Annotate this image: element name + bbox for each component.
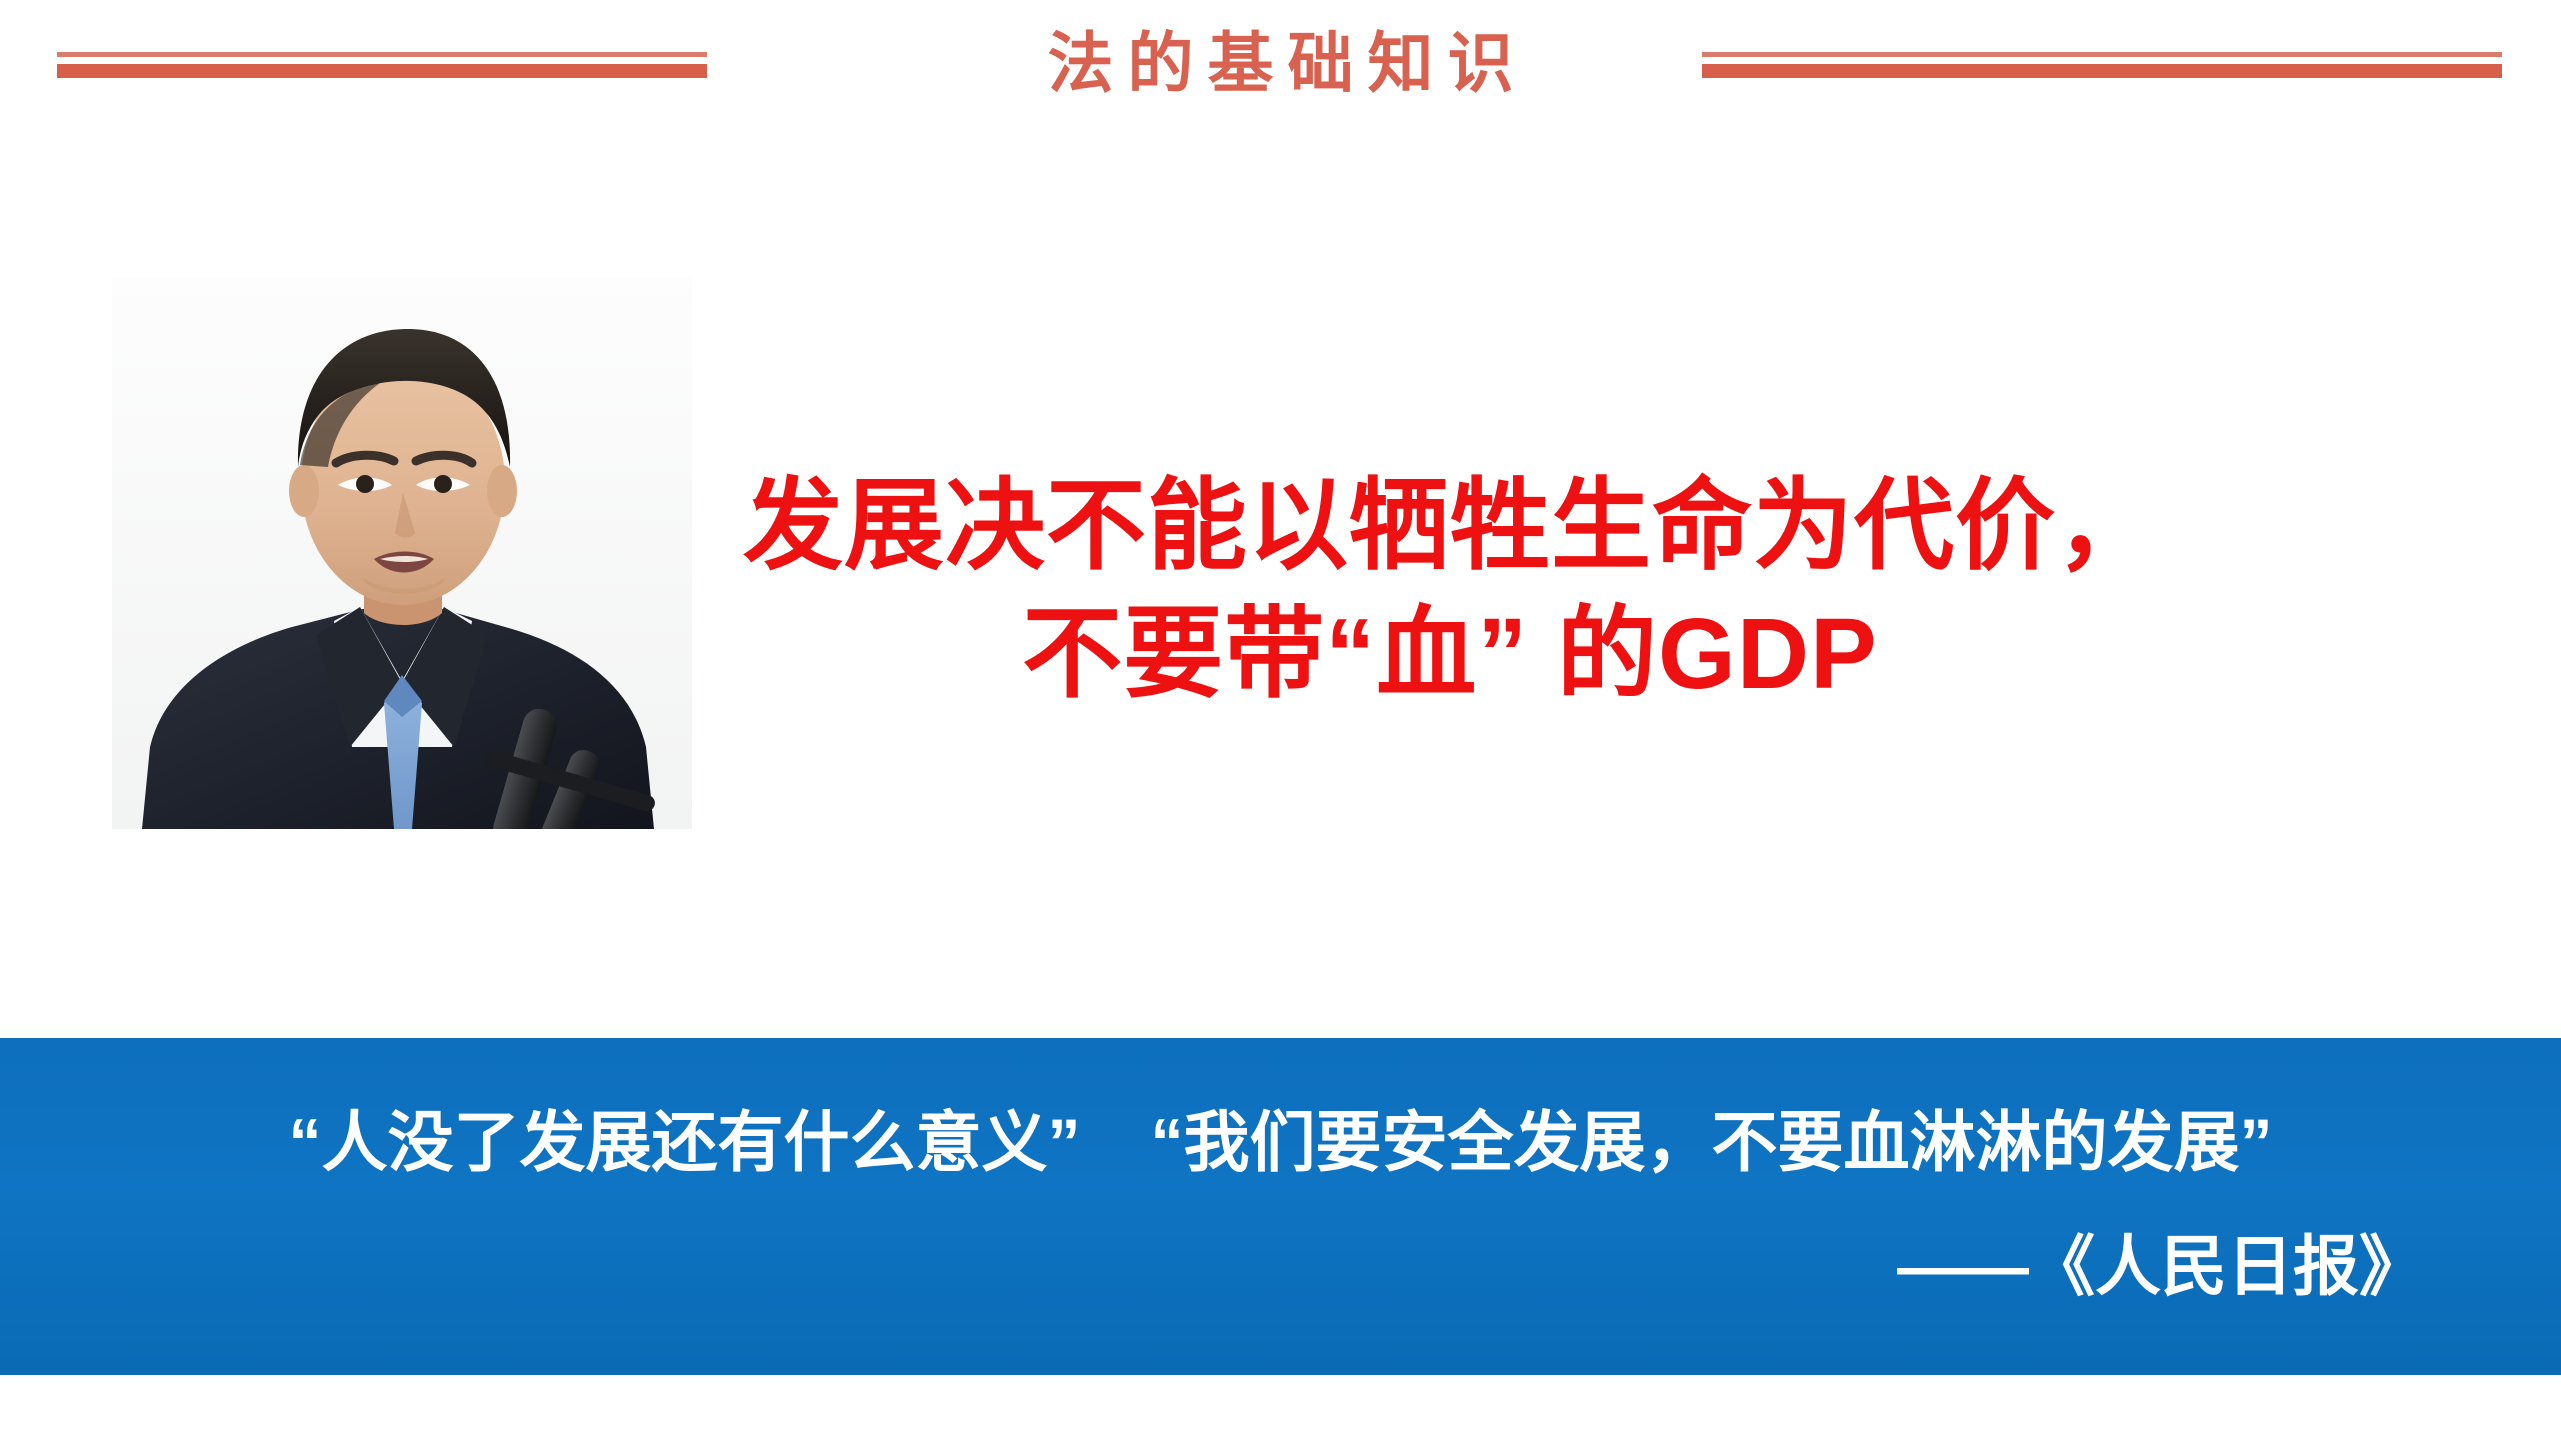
rule-right-thin-line <box>1702 52 2502 57</box>
quote-2: “我们要安全发展，不要血淋淋的发展” <box>1151 1105 2273 1179</box>
decorative-rule-right <box>1702 52 2502 78</box>
quote-row: “人没了发展还有什么意义”“我们要安全发展，不要血淋淋的发展” <box>0 1096 2561 1188</box>
headline-line-2: 不要带“血” 的GDP <box>700 590 2200 718</box>
quote-banner: “人没了发展还有什么意义”“我们要安全发展，不要血淋淋的发展” ——《人民日报》 <box>0 1038 2561 1375</box>
slide-header: 法的基础知识 <box>0 0 2561 130</box>
speaker-photo-illustration <box>112 277 692 829</box>
rule-right-thick-line <box>1702 64 2502 78</box>
headline-block: 发展决不能以牺牲生命为代价， 不要带“血” 的GDP <box>700 462 2200 718</box>
headline-line-1: 发展决不能以牺牲生命为代价， <box>700 462 2200 590</box>
quote-1: “人没了发展还有什么意义” <box>289 1105 1081 1179</box>
slide-canvas: 法的基础知识 <box>0 0 2561 1440</box>
speaker-photo <box>112 277 692 829</box>
quote-attribution: ——《人民日报》 <box>1897 1220 2425 1312</box>
